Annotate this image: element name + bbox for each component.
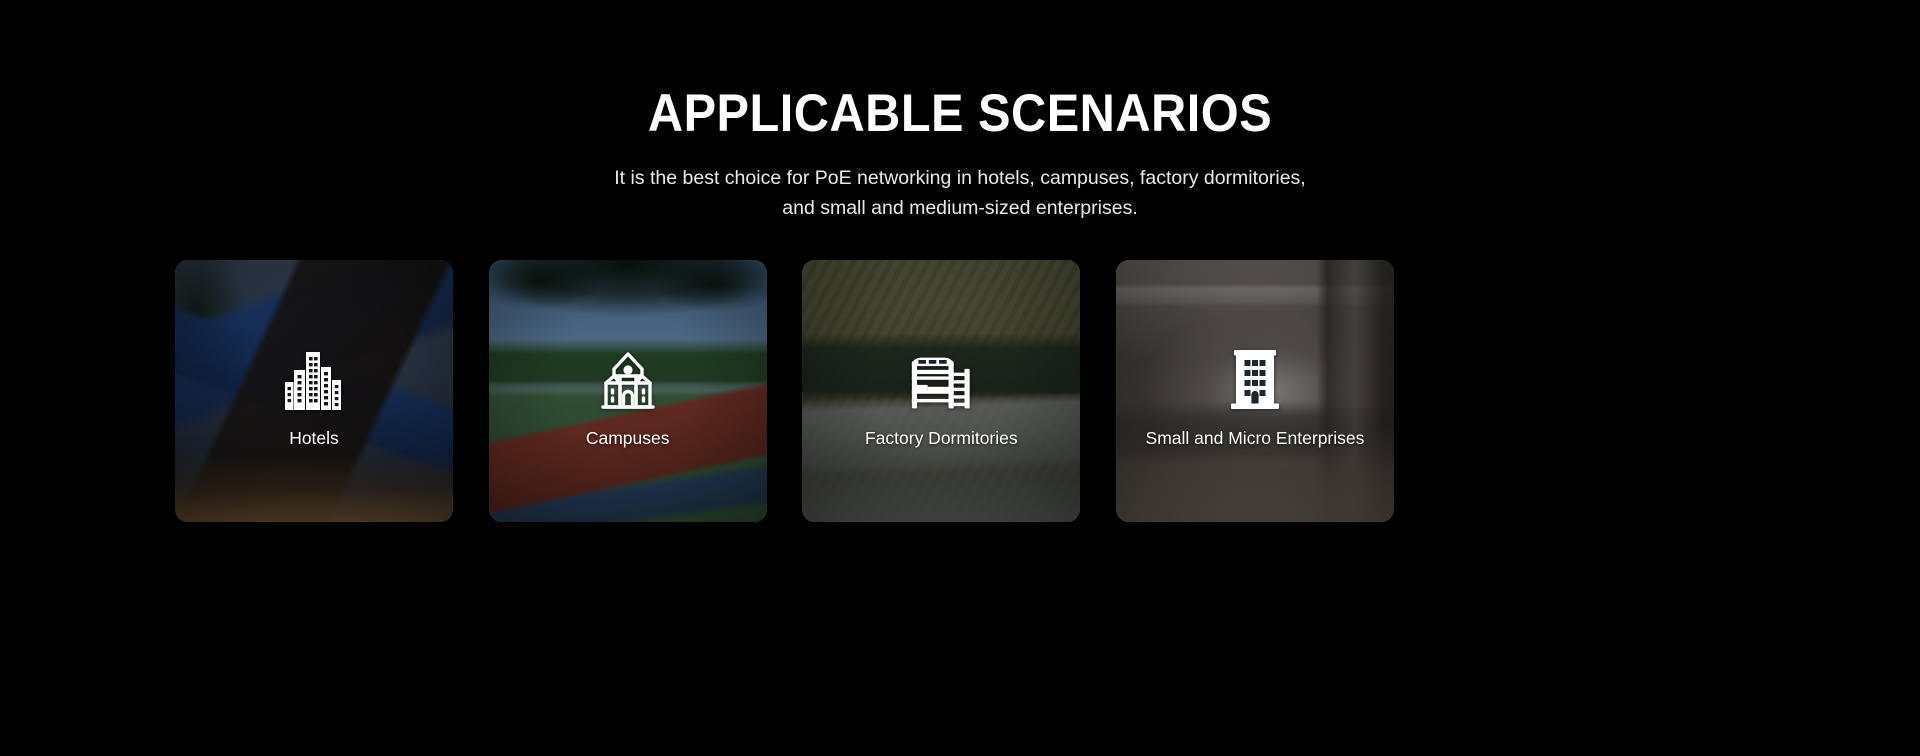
- card-content: Small and Micro Enterprises: [1116, 260, 1394, 522]
- bunk-bed-icon: [910, 346, 972, 412]
- card-content: Hotels: [175, 260, 453, 522]
- scenario-card-label: Campuses: [586, 428, 670, 449]
- section-subtitle: It is the best choice for PoE networking…: [0, 163, 1920, 223]
- office-building-icon: [1224, 346, 1286, 412]
- scenario-card-label: Hotels: [289, 428, 339, 449]
- scenario-card-campuses[interactable]: Campuses: [489, 260, 767, 522]
- school-building-icon: [597, 346, 659, 412]
- scenario-card-factory-dormitories[interactable]: Factory Dormitories: [802, 260, 1080, 522]
- page-title: APPLICABLE SCENARIOS: [77, 84, 1843, 144]
- subtitle-line-1: It is the best choice for PoE networking…: [0, 163, 1920, 193]
- scenario-card-label: Factory Dormitories: [865, 428, 1018, 449]
- scenario-card-hotels[interactable]: Hotels: [175, 260, 453, 522]
- scenario-card-label: Small and Micro Enterprises: [1146, 428, 1365, 449]
- subtitle-line-2: and small and medium-sized enterprises.: [0, 193, 1920, 223]
- section-header: APPLICABLE SCENARIOS It is the best choi…: [0, 0, 1920, 223]
- applicable-scenarios-section: APPLICABLE SCENARIOS It is the best choi…: [0, 0, 1920, 756]
- skyscraper-icon: [283, 346, 345, 412]
- scenario-card-small-and-micro-enterprises[interactable]: Small and Micro Enterprises: [1116, 260, 1394, 522]
- card-content: Factory Dormitories: [802, 260, 1080, 522]
- scenario-card-list: Hotels: [175, 260, 1394, 522]
- card-content: Campuses: [489, 260, 767, 522]
